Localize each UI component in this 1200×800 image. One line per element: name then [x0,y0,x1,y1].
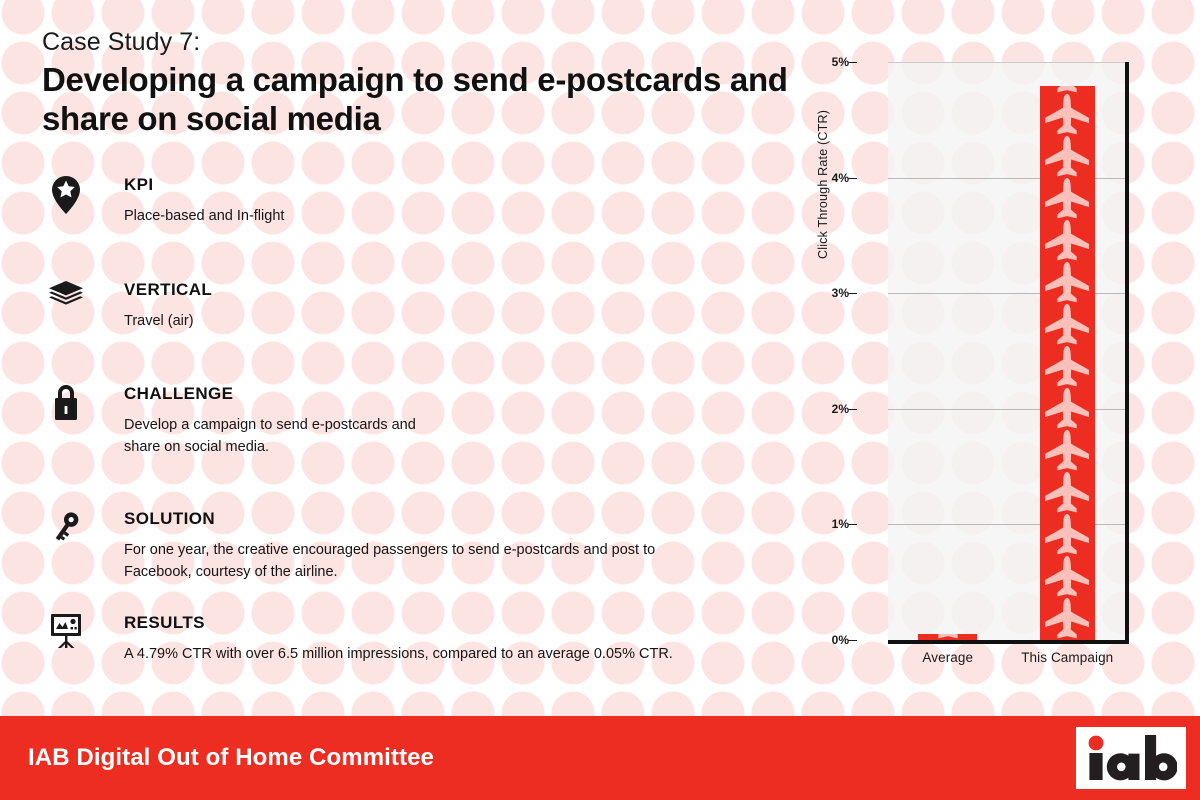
chart-y-tick-label: 2% [832,402,849,416]
map-pin-star-icon [42,176,90,224]
airplane-icon [1044,556,1090,598]
section-heading: VERTICAL [124,281,212,298]
section-heading: KPI [124,176,284,193]
case-study-label: Case Study 7: [42,28,832,57]
section-text: A 4.79% CTR with over 6.5 million impres… [124,643,673,665]
section-heading: CHALLENGE [124,385,416,402]
chart-plot-area [888,62,1127,640]
presentation-chart-icon [42,614,90,662]
chart-x-axis-line [888,640,1129,644]
chart-y-tick-mark [848,178,857,179]
section-challenge: CHALLENGE Develop a campaign to send e-p… [42,385,416,458]
airplane-icon [1044,262,1090,304]
airplane-icon [1044,304,1090,346]
chart-y-tick-label: 1% [832,517,849,531]
chart-y-tick-mark [848,409,857,410]
section-vertical: VERTICAL Travel (air) [42,281,212,332]
chart-bar-motif-stack [1040,86,1094,640]
chart-y-tick-label: 0% [832,633,849,647]
chart-right-axis-line [1125,62,1129,644]
airplane-icon [1044,136,1090,178]
chart-bar[interactable] [1040,86,1095,640]
airplane-icon [1044,388,1090,430]
airplane-icon [1044,514,1090,556]
iab-logo-glyph [1085,735,1177,781]
airplane-icon [1044,220,1090,262]
section-solution: SOLUTION For one year, the creative enco… [42,510,655,583]
chart-y-tick-label: 3% [832,286,849,300]
section-text: For one year, the creative encouraged pa… [124,539,655,583]
chart-y-tick-mark [848,62,857,63]
lock-icon [42,385,90,433]
footer-title: IAB Digital Out of Home Committee [28,744,434,772]
section-heading: RESULTS [124,614,673,631]
key-icon [42,510,90,558]
airplane-icon [1044,346,1090,388]
section-kpi: KPI Place-based and In-flight [42,176,284,227]
iab-logo [1062,716,1200,800]
page-title: Developing a campaign to send e-postcard… [42,61,832,139]
chart-y-tick-mark [848,293,857,294]
section-text: Place-based and In-flight [124,205,284,227]
section-text: Develop a campaign to send e-postcards a… [124,414,416,458]
footer-bar: IAB Digital Out of Home Committee [0,716,1200,800]
airplane-icon [1044,86,1090,94]
chart-gridline [888,62,1127,63]
chart-y-tick-mark [848,640,857,641]
section-results: RESULTS A 4.79% CTR with over 6.5 millio… [42,614,673,665]
chart-y-tick-label: 5% [832,55,849,69]
chart-y-tick-mark [848,524,857,525]
chart-y-axis-label: Click Through Rate (CTR) [816,59,830,259]
section-text: Travel (air) [124,310,212,332]
ctr-bar-chart: Click Through Rate (CTR) 0%1%2%3%4%5%Ave… [822,44,1162,674]
section-heading: SOLUTION [124,510,655,527]
case-study-slide: Case Study 7: Developing a campaign to s… [0,0,1200,800]
airplane-icon [1044,598,1090,640]
iab-logo-mark [1076,727,1186,789]
layers-icon [42,281,90,329]
airplane-icon [1044,94,1090,136]
airplane-icon [1044,430,1090,472]
chart-y-tick-label: 4% [832,171,849,185]
airplane-icon [1044,472,1090,514]
airplane-icon [1044,178,1090,220]
chart-x-tick-label: This Campaign [987,650,1147,665]
header-block: Case Study 7: Developing a campaign to s… [42,28,832,139]
